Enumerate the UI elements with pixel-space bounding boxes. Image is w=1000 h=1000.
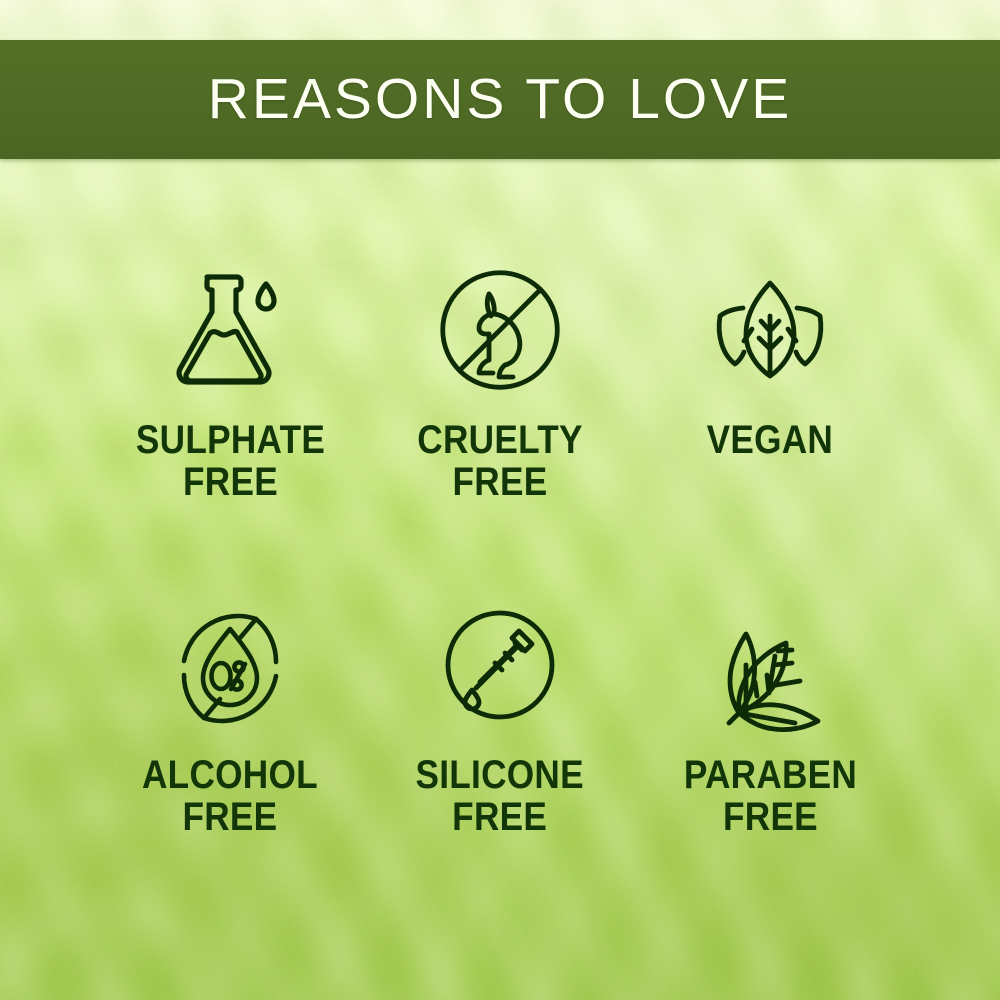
page-title: REASONS TO LOVE xyxy=(208,71,793,128)
poster-canvas: REASONS TO LOVE SULPHATE FREE xyxy=(0,0,1000,1000)
badge-cruelty-free[interactable]: CRUELTY FREE xyxy=(365,255,635,504)
zero-percent-droplet-icon xyxy=(155,590,305,740)
badge-vegan[interactable]: VEGAN xyxy=(635,255,905,504)
badge-label: VEGAN xyxy=(707,419,834,461)
three-leaves-icon xyxy=(695,255,845,405)
badge-label: PARABEN FREE xyxy=(683,754,856,839)
benefits-grid: SULPHATE FREE CRUELTY FREE xyxy=(95,255,905,839)
flask-droplet-icon xyxy=(155,255,305,405)
badge-label: SILICONE FREE xyxy=(416,754,584,839)
badge-sulphate-free[interactable]: SULPHATE FREE xyxy=(95,255,365,504)
badge-label: CRUELTY FREE xyxy=(417,419,582,504)
header-banner: REASONS TO LOVE xyxy=(0,40,1000,159)
leaf-branch-icon xyxy=(695,590,845,740)
badge-alcohol-free[interactable]: ALCOHOL FREE xyxy=(95,590,365,839)
no-rabbit-icon xyxy=(425,255,575,405)
dropper-pipette-icon xyxy=(425,590,575,740)
badge-paraben-free[interactable]: PARABEN FREE xyxy=(635,590,905,839)
badge-label: ALCOHOL FREE xyxy=(142,754,318,839)
badge-label: SULPHATE FREE xyxy=(135,419,324,504)
badge-silicone-free[interactable]: SILICONE FREE xyxy=(365,590,635,839)
